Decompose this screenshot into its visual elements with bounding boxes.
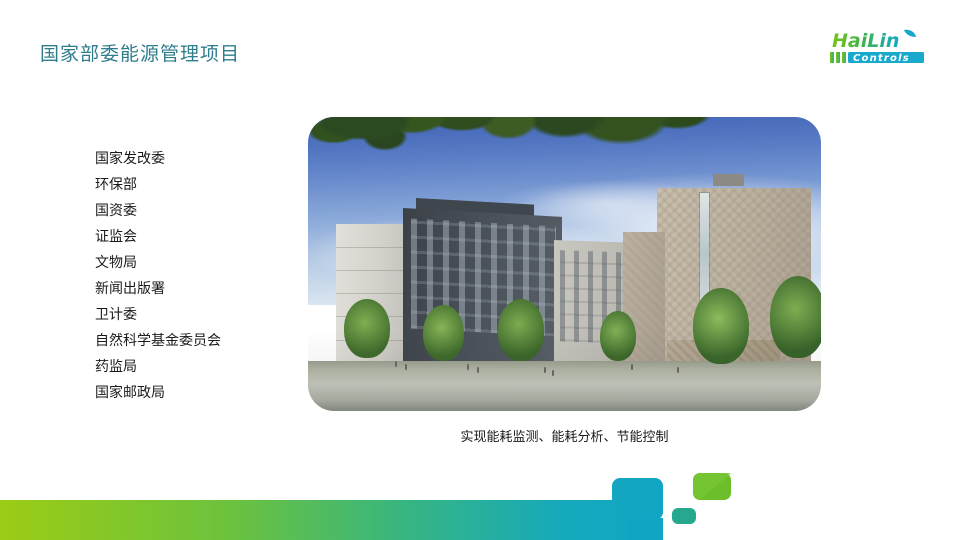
list-item: 证监会 xyxy=(95,224,315,250)
list-item: 国家邮政局 xyxy=(95,380,315,406)
svg-text:HaiLin: HaiLin xyxy=(832,30,899,52)
photo-caption: 实现能耗监测、能耗分析、节能控制 xyxy=(308,426,821,445)
footer-bar xyxy=(0,478,663,540)
list-item: 文物局 xyxy=(95,250,315,276)
list-item: 国资委 xyxy=(95,198,315,224)
footer-decoration-icon xyxy=(0,460,960,540)
hailin-logo: HaiLin Controls xyxy=(830,27,942,69)
photo-shading xyxy=(308,117,821,411)
list-item: 环保部 xyxy=(95,172,315,198)
list-item: 国家发改委 xyxy=(95,146,315,172)
hailin-logo-icon: HaiLin Controls xyxy=(830,27,942,69)
list-item: 卫计委 xyxy=(95,302,315,328)
slide-root: 国家部委能源管理项目 HaiLin Controls xyxy=(0,0,960,540)
footer-square-teal xyxy=(672,508,696,524)
photo-illustration xyxy=(308,117,821,411)
svg-text:Controls: Controls xyxy=(853,53,910,64)
list-item: 自然科学基金委员会 xyxy=(95,328,315,354)
project-photo xyxy=(308,117,821,411)
footer-decoration xyxy=(0,460,960,540)
list-item: 药监局 xyxy=(95,354,315,380)
footer-column xyxy=(628,518,663,540)
list-item: 新闻出版署 xyxy=(95,276,315,302)
department-list: 国家发改委 环保部 国资委 证监会 文物局 新闻出版署 卫计委 自然科学基金委员… xyxy=(95,146,315,406)
page-title: 国家部委能源管理项目 xyxy=(40,39,240,66)
